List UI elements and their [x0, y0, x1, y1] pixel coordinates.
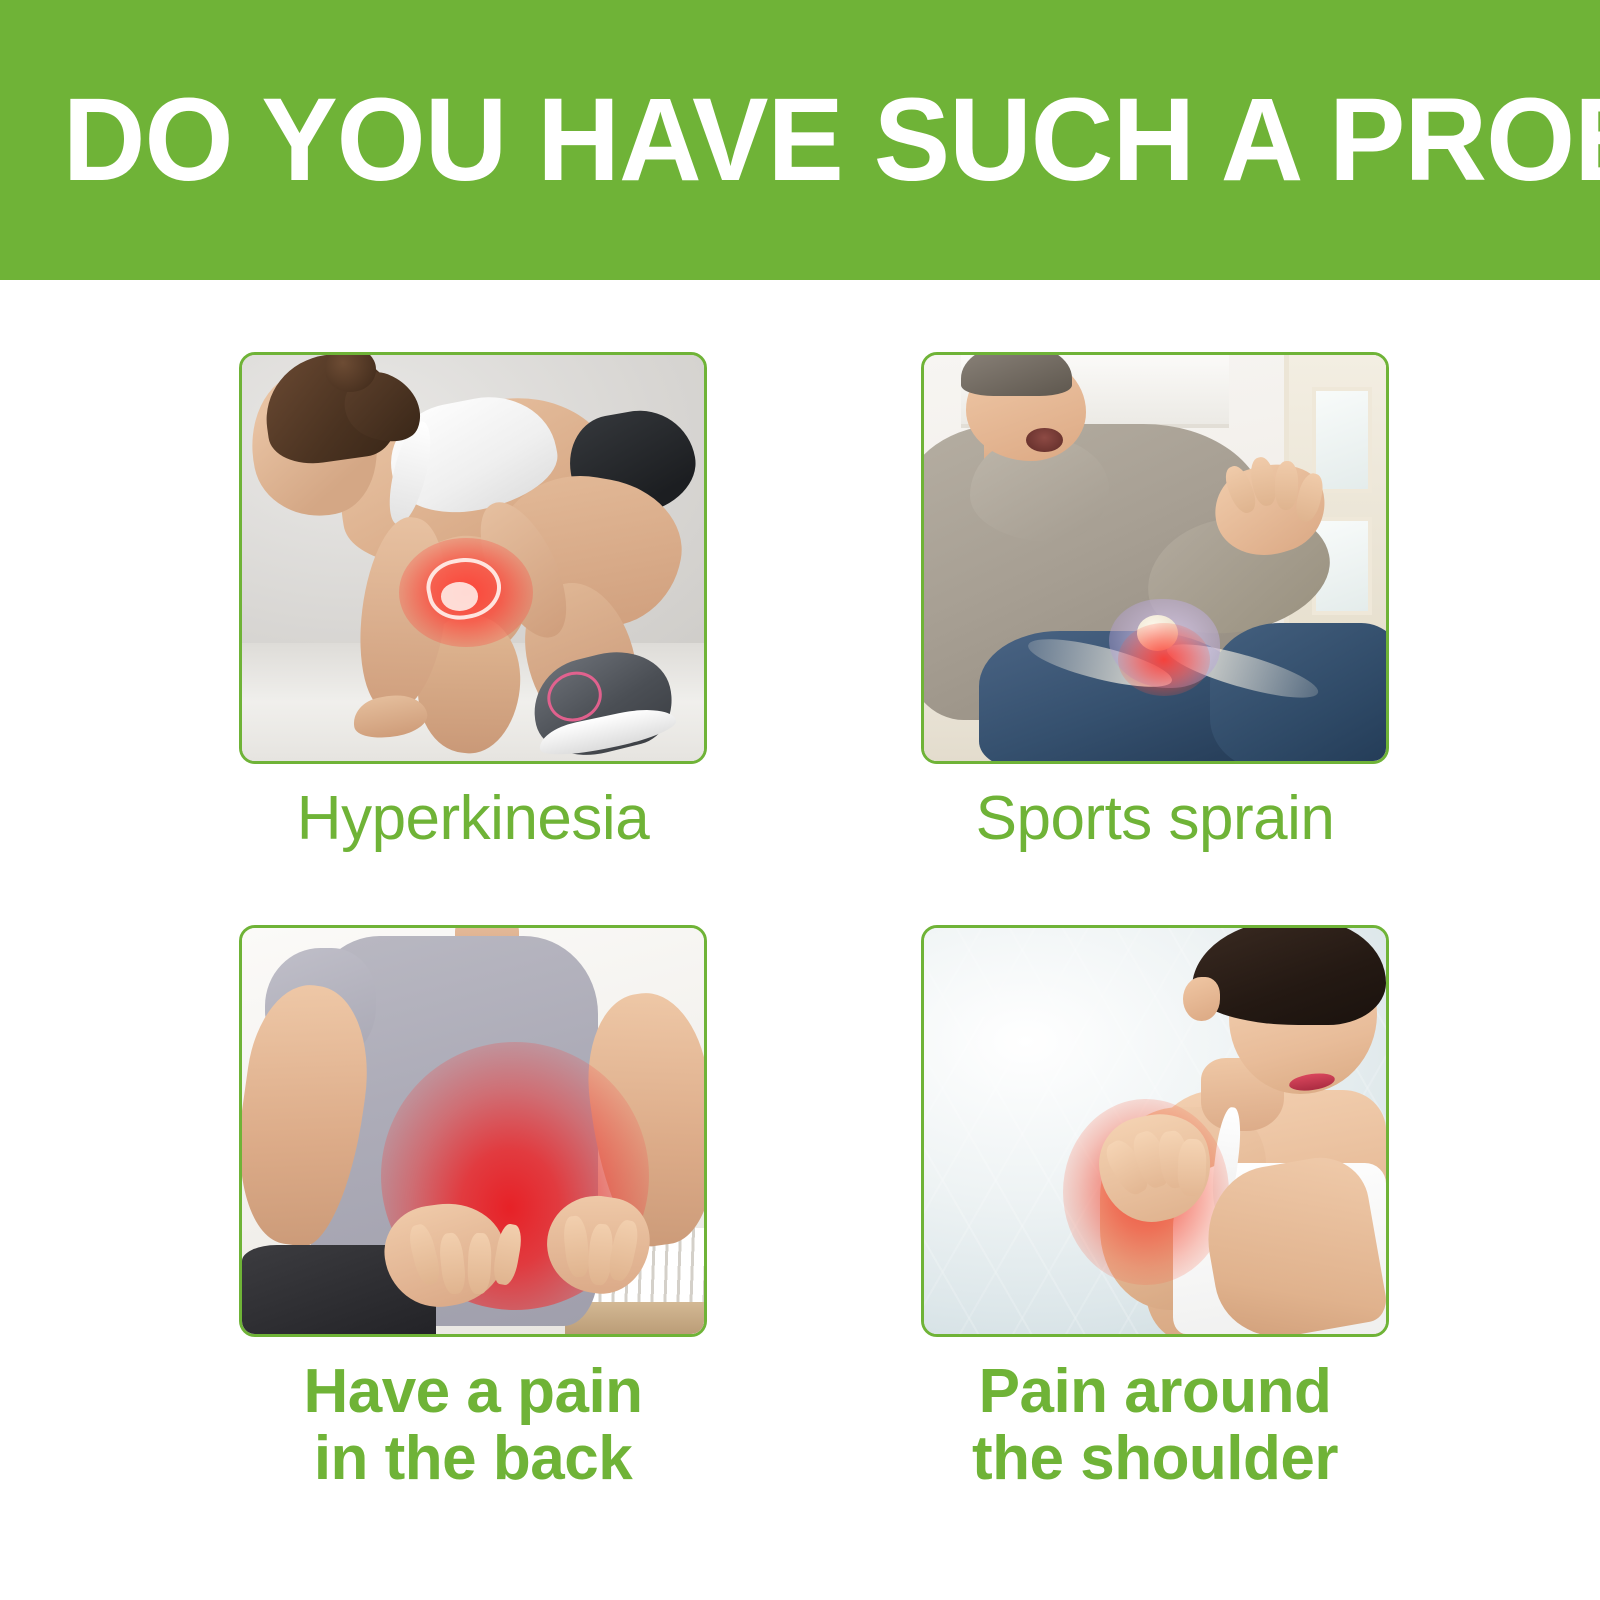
photo-frame-back-pain — [239, 925, 707, 1337]
door-glass-panel-top — [1312, 387, 1372, 493]
man-hair — [961, 355, 1072, 396]
woman-ear — [1183, 977, 1220, 1022]
poster-root: DO YOU HAVE SUCH A PROBLEM? — [0, 0, 1600, 1600]
woman-hair — [1192, 928, 1386, 1025]
card-caption-shoulder-pain: Pain around the shoulder — [814, 1359, 1496, 1493]
man-open-mouth — [1026, 428, 1063, 452]
photo-lower-back-pain — [242, 928, 704, 1334]
header-banner: DO YOU HAVE SUCH A PROBLEM? — [0, 0, 1600, 280]
pain-highlight-knee — [1118, 623, 1210, 696]
symptom-card-shoulder-pain[interactable]: Pain around the shoulder — [814, 925, 1496, 1493]
photo-shoulder-pain — [924, 928, 1386, 1334]
symptom-card-grid: Hyperkinesia — [0, 280, 1600, 1600]
hand-finger — [1177, 1139, 1207, 1197]
symptom-card-sports-sprain[interactable]: Sports sprain — [814, 352, 1496, 853]
symptom-card-hyperkinesia[interactable]: Hyperkinesia — [132, 352, 814, 853]
photo-frame-sports-sprain — [921, 352, 1389, 764]
page-title: DO YOU HAVE SUCH A PROBLEM? — [63, 81, 1537, 199]
symptom-card-back-pain[interactable]: Have a pain in the back — [132, 925, 814, 1493]
photo-frame-shoulder-pain — [921, 925, 1389, 1337]
card-caption-back-pain: Have a pain in the back — [132, 1359, 814, 1493]
photo-runner-knee-pain — [242, 355, 704, 761]
patella-overlay — [441, 582, 478, 610]
card-caption-sports-sprain: Sports sprain — [814, 786, 1496, 853]
card-caption-hyperkinesia: Hyperkinesia — [132, 786, 814, 853]
photo-man-knee-pain — [924, 355, 1386, 761]
photo-frame-hyperkinesia — [239, 352, 707, 764]
